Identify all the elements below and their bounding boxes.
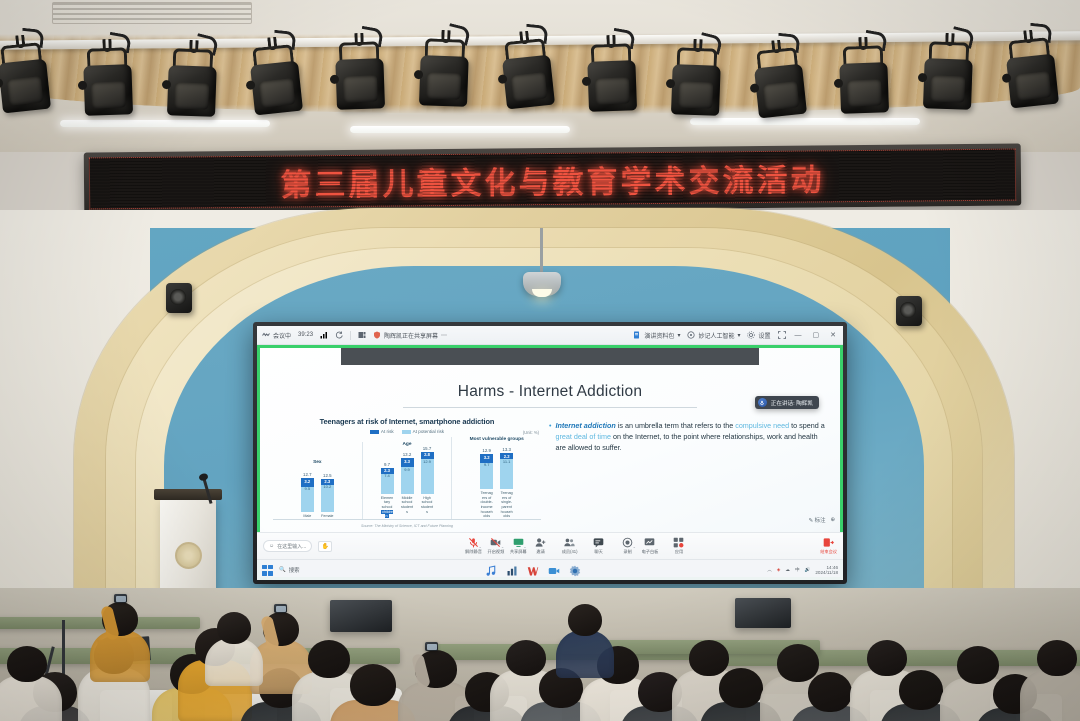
stage-light-fixture <box>496 37 559 116</box>
chart-bar-label: Teenagers of single-parent households <box>500 491 513 519</box>
audience-member <box>1020 640 1080 721</box>
chart-bar: 15.72.812.9 <box>421 450 434 494</box>
ceiling-vent <box>52 2 252 24</box>
control-label: 解除静音 <box>465 549 482 555</box>
stage-light-fixture <box>919 41 978 117</box>
speaking-indicator: 正在讲话: 陶辉凯 <box>755 396 819 409</box>
bullet-text: Internet addiction is an umbrella term t… <box>555 421 827 454</box>
led-display-screen: 会议中 39:23 陶辉凯正在共享屏幕 ⋯ 演讲资料包 ▾ <box>253 322 847 584</box>
chevron-down-icon[interactable]: ⌄ <box>633 544 636 549</box>
toolbar-docs[interactable]: 演讲资料包 ▾ <box>633 331 680 340</box>
person-head <box>350 664 396 706</box>
person-head <box>7 646 47 682</box>
tube-light-mid <box>350 126 570 133</box>
chevron-up-icon[interactable]: ︿ <box>767 567 772 573</box>
legend-swatch-at-potential-risk <box>402 430 411 434</box>
chart-bar-label: Male <box>301 514 314 519</box>
meeting-control-bar: ☺ 在这里输入... ✋ 解除静音⌄开启视频⌄共享屏幕⌄邀请成员(41)聊天录制… <box>257 532 843 559</box>
chevron-down-icon-docs[interactable]: ▾ <box>677 332 680 339</box>
emoji-icon: ✋ <box>322 543 329 550</box>
camera-tripod <box>62 620 65 680</box>
chart-bar-segment-at-risk: 2.8 <box>421 452 434 460</box>
legend-swatch-at-risk <box>370 430 379 434</box>
speaking-indicator-label: 正在讲话: 陶辉凯 <box>771 399 813 407</box>
chart-bar: 12.52.310.2 <box>321 468 334 512</box>
toolbar-docs-label: 演讲资料包 <box>644 331 674 340</box>
signal-icon[interactable] <box>320 331 328 339</box>
legend-item-at-potential-risk: At potential risk <box>402 429 444 434</box>
pendant-light <box>519 228 565 302</box>
invite-icon <box>535 537 546 548</box>
legend-item-at-risk: At risk <box>370 429 394 434</box>
conference-hall-photo: 第三届儿童文化与教育学术交流活动 会议中 39:23 <box>0 0 1080 721</box>
toolbar-settings[interactable]: 设置 <box>747 331 770 340</box>
taskbar-clock[interactable]: 14:46 2024/11/18 <box>815 565 838 576</box>
chart-app-icon[interactable] <box>506 564 518 576</box>
leave-icon <box>823 537 834 548</box>
bullet-highlight-1: compulsive need <box>735 421 789 430</box>
chart-bar-label: Elementary school children <box>381 496 394 519</box>
control-label: 聊天 <box>594 549 602 555</box>
chevron-down-icon[interactable]: ⌄ <box>479 544 482 549</box>
doc-icon <box>633 331 641 339</box>
chevron-down-icon[interactable]: ⌄ <box>501 544 504 549</box>
led-banner-screen: 第三届儿童文化与教育学术交流活动 <box>89 149 1016 210</box>
chart-container: Teenagers at risk of Internet, smartphon… <box>273 417 541 528</box>
annotate-button[interactable]: ✎ 标注 <box>809 516 826 524</box>
control-chat[interactable]: 聊天 <box>589 537 609 555</box>
music-icon[interactable] <box>485 564 497 576</box>
stage-monitor-speaker <box>330 600 392 632</box>
stage-light-fixture <box>748 46 811 125</box>
control-label: 录制 <box>623 549 631 555</box>
whiteboard-icon <box>644 537 655 548</box>
wall-speaker-right <box>896 296 922 326</box>
leave-meeting-label: 结束会议 <box>820 549 837 555</box>
mic-off-icon <box>468 537 479 548</box>
bar-chart: Sex12.73.29.512.52.310.2MaleFemaleAge9.7… <box>273 437 541 520</box>
bullet-internet-addiction: • Internet addiction is an umbrella term… <box>549 421 827 454</box>
meeting-logo-icon <box>262 331 270 339</box>
control-label: 成员(41) <box>562 549 578 555</box>
stage-light-fixture <box>583 43 642 119</box>
chart-bar-total: 9.7 <box>384 462 390 467</box>
wall-speaker-left <box>166 283 192 313</box>
person-head <box>1037 640 1077 676</box>
person-torso <box>205 638 263 686</box>
chat-input-icon: ☺ <box>269 543 274 549</box>
person-torso <box>90 630 150 682</box>
control-whiteboard[interactable]: 电子白板 <box>640 537 660 555</box>
chart-bar-segment-potential: 9.7 <box>480 463 493 489</box>
bullet-lead-term: Internet addiction <box>555 421 615 430</box>
chevron-down-icon-ai[interactable]: ▾ <box>737 332 740 339</box>
control-label: 应用 <box>675 549 683 555</box>
chevron-down-icon[interactable]: ⌄ <box>523 544 526 549</box>
slide-title: Harms - Internet Addiction <box>273 383 827 401</box>
chart-bar-segment-at-risk: 3.3 <box>401 458 414 467</box>
chart-bar-label: Female <box>321 514 334 519</box>
person-torso <box>1020 670 1080 721</box>
taskbar-time: 14:46 <box>827 565 839 570</box>
apps-icon <box>673 537 684 548</box>
layout-icon[interactable] <box>358 331 366 339</box>
person-head <box>217 612 251 644</box>
chart-bar-label: Middle school students <box>401 496 414 519</box>
lectern-emblem <box>175 542 202 569</box>
chart-bar-label: Teenagers of double-income households <box>480 491 493 519</box>
camera-off-icon <box>490 537 501 548</box>
control-invite[interactable]: 邀请 <box>531 537 551 555</box>
stage-monitor-speaker <box>735 598 791 628</box>
settings-app-icon[interactable] <box>569 564 581 576</box>
toolbar-ai-label: 妙记人工智能 <box>698 331 734 340</box>
zoom-in-icon[interactable]: ⊕ <box>830 517 835 523</box>
bullet-dot-icon: • <box>549 421 551 454</box>
stage-light-fixture <box>244 43 307 122</box>
ai-icon <box>687 331 695 339</box>
volume-icon[interactable]: 🔊 <box>805 567 811 573</box>
screen-content: 会议中 39:23 陶辉凯正在共享屏幕 ⋯ 演讲资料包 ▾ <box>257 326 843 580</box>
led-banner-text: 第三届儿童文化与教育学术交流活动 <box>280 154 824 204</box>
mic-icon <box>758 398 767 407</box>
control-label: 邀请 <box>536 549 544 555</box>
control-label: 电子白板 <box>642 549 659 555</box>
control-apps[interactable]: 应用 <box>669 537 689 555</box>
control-label: 开启视频 <box>488 549 505 555</box>
person-head <box>568 604 602 636</box>
person-head <box>719 668 763 708</box>
led-banner: 第三届儿童文化与教育学术交流活动 <box>84 144 1022 215</box>
stage-light-fixture <box>0 41 56 120</box>
chart-bar-segment-potential: 7.4 <box>381 474 394 494</box>
chart-bar-total: 12.7 <box>303 472 312 477</box>
chart-group: Most vulnerable groups12.93.29.713.32.21… <box>451 437 541 519</box>
control-label: 共享屏幕 <box>510 549 527 555</box>
emoji-button[interactable]: ✋ <box>318 541 332 552</box>
toolbar-meeting-status[interactable]: 会议中 <box>262 331 291 340</box>
shield-icon <box>373 331 381 339</box>
pen-icon: ✎ <box>809 518 814 524</box>
chart-title: Teenagers at risk of Internet, smartphon… <box>273 417 541 426</box>
gear-icon <box>747 331 755 339</box>
stage-light-fixture <box>331 41 390 117</box>
taskbar-tray: ︿ ◈ ☁ 中 🔊 14:46 2024/11/18 <box>767 565 838 576</box>
record-icon <box>622 537 633 548</box>
chart-group: Sex12.73.29.512.52.310.2MaleFemale <box>273 460 362 519</box>
stage-light-fixture <box>667 47 726 123</box>
chart-group-label: Most vulnerable groups <box>470 437 524 442</box>
chart-bar-segment-potential: 10.2 <box>321 485 334 512</box>
stage-light-fixture <box>1000 36 1063 115</box>
members-icon <box>564 537 575 548</box>
windows-taskbar: 🔍 搜索 ︿ ◈ ☁ 中 🔊 14:46 2024/11/18 <box>257 559 843 580</box>
meeting-app-icon[interactable] <box>548 564 560 576</box>
window-minimize-button[interactable]: — <box>793 332 804 339</box>
toolbar-share-label: 陶辉凯正在共享屏幕 <box>384 331 438 340</box>
chart-bar: 13.23.39.9 <box>401 450 414 494</box>
window-maximize-button[interactable]: ▢ <box>811 332 822 339</box>
chart-group: Age9.72.37.413.23.39.915.72.812.9Element… <box>362 442 452 519</box>
taskbar-search-label: 搜索 <box>289 566 300 574</box>
chart-bar-total: 12.9 <box>482 448 491 453</box>
annotate-label: 标注 <box>815 518 826 524</box>
lectern <box>160 498 216 602</box>
chart-bar-segment-potential: 12.9 <box>421 459 434 494</box>
control-members[interactable]: 成员(41) <box>560 537 580 555</box>
chart-bar: 12.93.29.7 <box>480 445 493 489</box>
chart-bar-segment-potential: 9.5 <box>301 487 314 512</box>
toolbar-settings-label: 设置 <box>758 331 770 340</box>
leave-meeting-button[interactable]: 结束会议 <box>820 537 837 555</box>
taskbar-date: 2024/11/18 <box>815 570 838 575</box>
person-torso <box>0 676 62 721</box>
led-banner-frame: 第三届儿童文化与教育学术交流活动 <box>84 144 1022 215</box>
toolbar-timer-label: 39:23 <box>298 332 313 338</box>
chart-bar-total: 15.7 <box>423 446 432 451</box>
meeting-app-toolbar: 会议中 39:23 陶辉凯正在共享屏幕 ⋯ 演讲资料包 ▾ <box>257 326 843 345</box>
person-torso <box>556 630 614 678</box>
stage-light-fixture <box>415 38 474 114</box>
cloud-icon[interactable]: ☁ <box>785 567 790 573</box>
fullscreen-icon[interactable] <box>778 331 786 339</box>
chart-bar-segment-potential: 11.1 <box>500 459 513 489</box>
chart-bar-label: High school students <box>421 496 434 519</box>
chart-source: Source: The Ministry of Science, ICT and… <box>273 524 541 528</box>
chart-bar: 13.32.211.1 <box>500 445 513 489</box>
shared-window-titlebar <box>341 346 759 365</box>
network-icon[interactable]: ◈ <box>777 567 781 573</box>
chart-bar-total: 13.2 <box>403 452 412 457</box>
audience-phone <box>114 594 127 603</box>
taskbar-pinned-apps <box>300 564 768 576</box>
audience-member <box>90 602 150 688</box>
chat-input-placeholder: 在这里输入... <box>277 543 306 550</box>
toolbar-share-more-icon[interactable]: ⋯ <box>441 332 447 339</box>
bullet-highlight-2: great deal of time <box>555 432 611 441</box>
person-head <box>899 670 943 710</box>
audience-phone <box>274 604 287 613</box>
search-icon: 🔍 <box>279 567 286 573</box>
toolbar-ai[interactable]: 妙记人工智能 ▾ <box>687 331 740 340</box>
stage-light-fixture <box>163 48 222 124</box>
start-icon[interactable] <box>262 565 273 576</box>
meeting-actions: 解除静音⌄开启视频⌄共享屏幕⌄邀请成员(41)聊天录制⌄电子白板应用 <box>332 537 820 555</box>
chart-legend: At risk At potential risk (Unit: %) <box>273 429 541 434</box>
toolbar-timer: 39:23 <box>298 332 313 338</box>
chat-icon <box>593 537 604 548</box>
chat-input[interactable]: ☺ 在这里输入... <box>263 540 312 552</box>
share-icon <box>513 537 524 548</box>
chart-group-label: Sex <box>313 460 322 465</box>
chart-unit-label: (Unit: %) <box>523 430 539 435</box>
chart-group-label: Age <box>402 442 411 447</box>
person-head <box>808 672 852 712</box>
chart-bar-segment-potential: 9.9 <box>401 467 414 494</box>
audience-member <box>0 646 62 721</box>
audience-member <box>205 612 263 692</box>
slide-title-underline <box>403 407 697 408</box>
ime-icon[interactable]: 中 <box>795 567 800 573</box>
toolbar-share-notice: 陶辉凯正在共享屏幕 ⋯ <box>373 331 447 340</box>
taskbar-search[interactable]: 🔍 搜索 <box>279 566 300 574</box>
window-close-button[interactable]: ✕ <box>828 332 838 339</box>
wps-icon[interactable] <box>527 564 539 576</box>
chart-bar: 9.72.37.4 <box>381 450 394 494</box>
toolbar-meeting-label: 会议中 <box>273 331 291 340</box>
chart-bar: 12.73.29.5 <box>301 468 314 512</box>
audience-phone <box>425 642 438 651</box>
annotation-tools: ✎ 标注 ⊕ <box>809 516 835 524</box>
slide-text-column: • Internet addiction is an umbrella term… <box>549 417 827 528</box>
audience-member <box>556 604 614 684</box>
chart-bar-total: 12.5 <box>323 473 332 478</box>
stage-light-fixture <box>79 47 138 123</box>
chart-bar-total: 13.3 <box>502 447 511 452</box>
stage-light-fixture <box>835 45 894 121</box>
refresh-icon[interactable] <box>335 331 343 339</box>
